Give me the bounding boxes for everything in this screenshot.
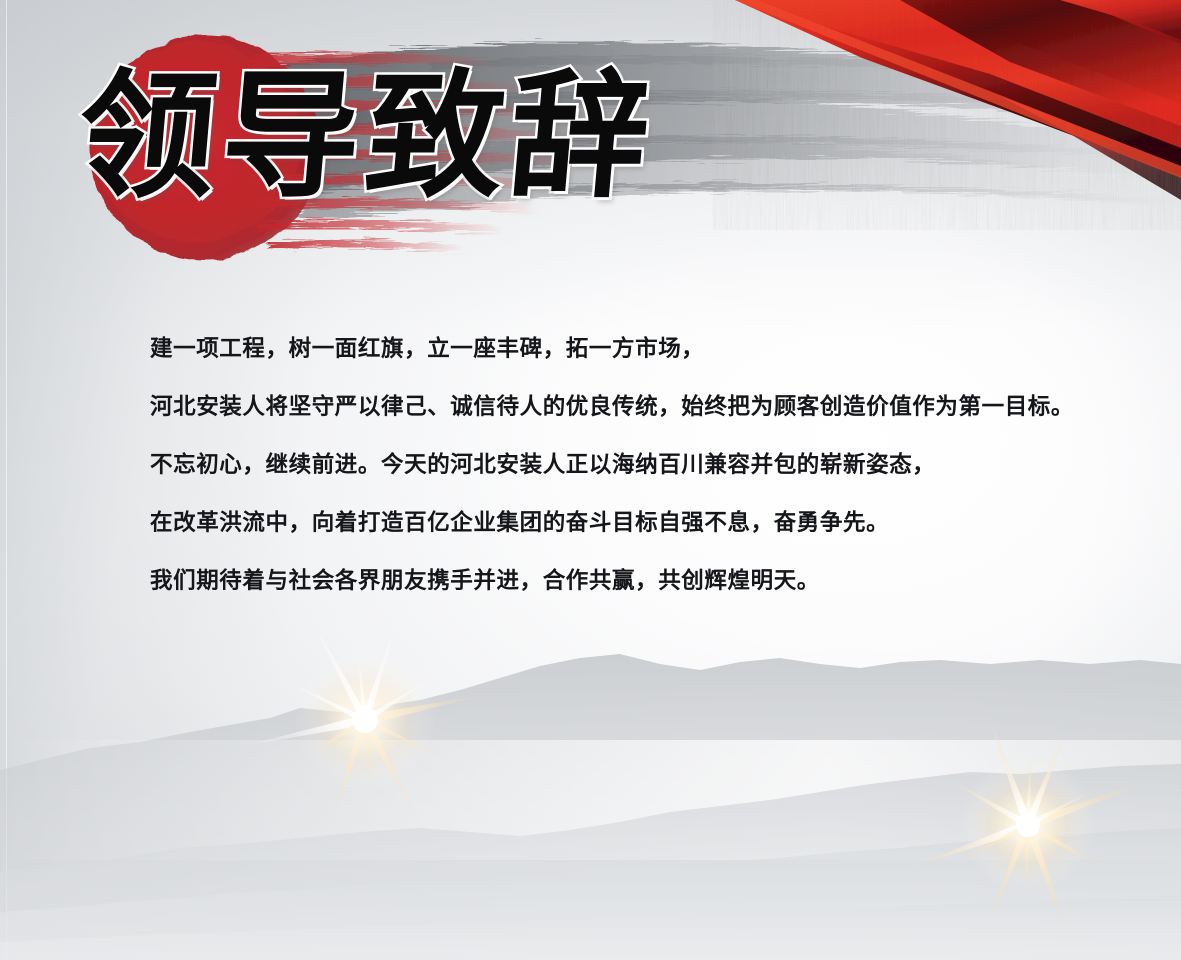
page-title: 领导致辞 (70, 46, 687, 236)
address-line: 我们期待着与社会各界朋友携手并进，合作共赢，共创辉煌明天。 (150, 562, 1100, 620)
address-line: 建一项工程，树一面红旗，立一座丰碑，拓一方市场， (150, 330, 1100, 388)
address-line: 不忘初心，继续前进。今天的河北安装人正以海纳百川兼容并包的崭新姿态， (150, 446, 1100, 504)
mountain-landscape (0, 620, 1181, 960)
poster-canvas: 领导致辞 建一项工程，树一面红旗，立一座丰碑，拓一方市场， 河北安装人将坚守严以… (0, 0, 1181, 960)
address-body: 建一项工程，树一面红旗，立一座丰碑，拓一方市场， 河北安装人将坚守严以律己、诚信… (150, 330, 1100, 620)
address-line: 河北安装人将坚守严以律己、诚信待人的优良传统，始终把为顾客创造价值作为第一目标。 (150, 388, 1100, 446)
address-line: 在改革洪流中，向着打造百亿企业集团的奋斗目标自强不息，奋勇争先。 (150, 504, 1100, 562)
